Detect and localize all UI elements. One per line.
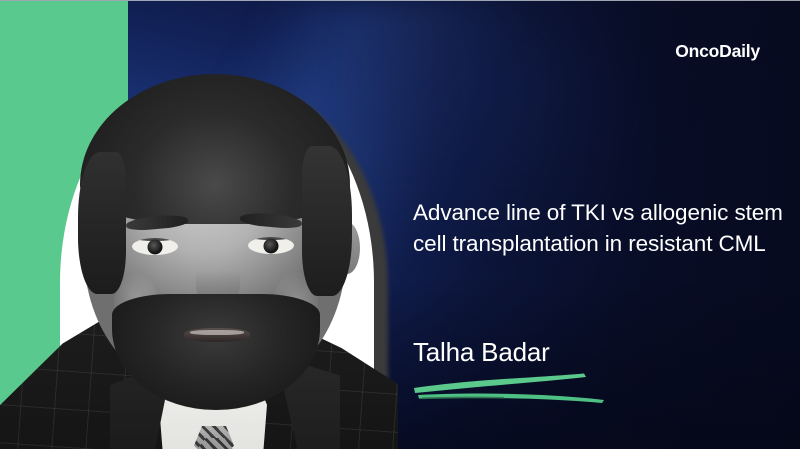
slide-canvas: OncoDaily Advance line of TKI vs allogen…	[0, 0, 800, 449]
portrait-iris-right	[264, 238, 279, 253]
portrait-iris-left	[148, 239, 163, 254]
speaker-portrait	[18, 66, 400, 449]
speaker-name: Talha Badar	[413, 337, 550, 368]
portrait-eye-left	[132, 238, 178, 255]
portrait-teeth	[190, 330, 244, 335]
oncodaily-logo[interactable]: OncoDaily	[675, 41, 760, 62]
portrait-eye-right	[248, 237, 294, 254]
portrait-hair-right	[302, 146, 352, 296]
portrait-figure	[18, 66, 400, 449]
page-title: Advance line of TKI vs allogenic stem ce…	[413, 197, 785, 259]
portrait-hair-left	[78, 152, 126, 294]
